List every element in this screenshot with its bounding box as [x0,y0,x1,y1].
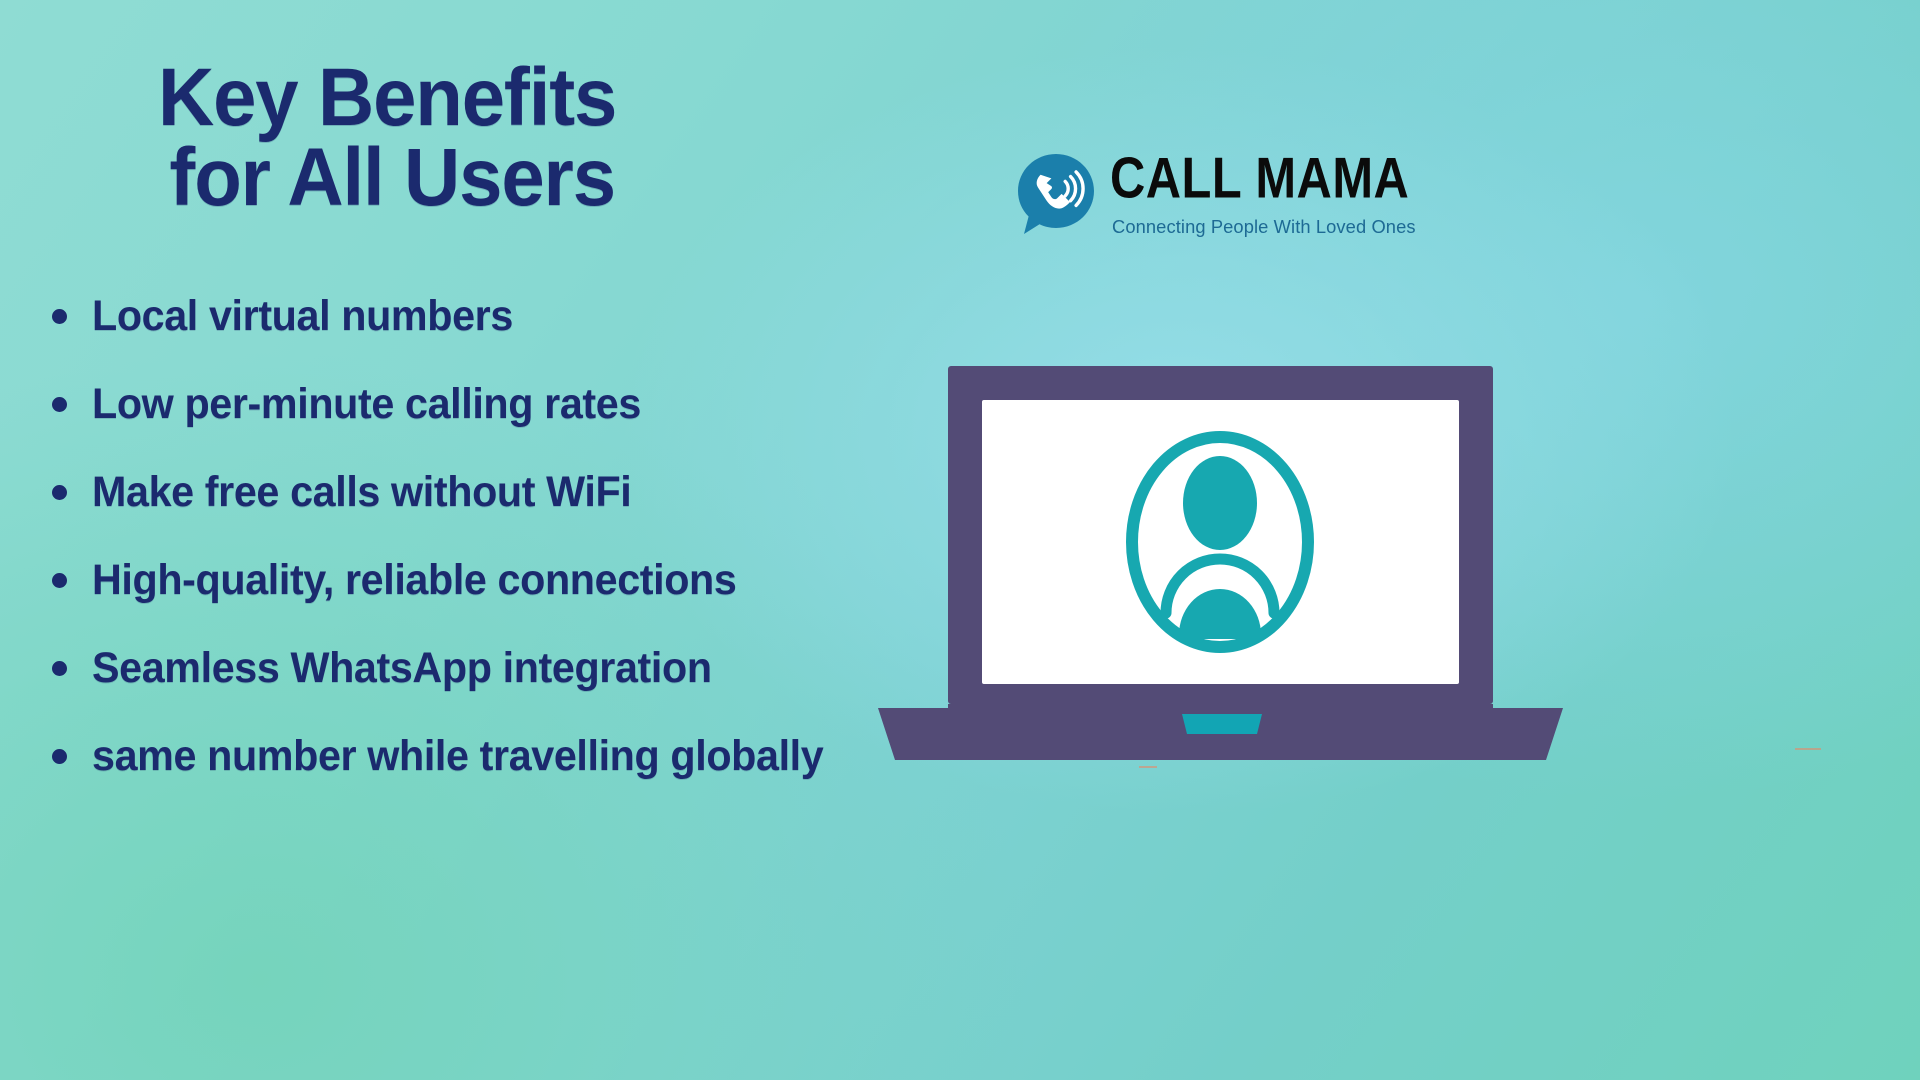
bullet-dot-icon [52,397,67,412]
page-title: Key Benefits for All Users [158,58,880,217]
list-item-label: Seamless WhatsApp integration [92,647,712,690]
decorative-hairline-left [1139,766,1157,768]
decorative-hairline-right [1795,748,1821,750]
poster-content: Key Benefits for All Users Local virtual… [0,0,1920,1080]
bullet-dot-icon [52,749,67,764]
brand-logo: CALL MAMA Connecting People With Loved O… [1014,146,1366,242]
list-item: Local virtual numbers [52,272,1052,360]
list-item-label: Local virtual numbers [92,295,513,338]
page-title-line-1: Key Benefits [158,58,880,138]
list-item-label: Make free calls without WiFi [92,471,631,514]
logo-text-block: CALL MAMA Connecting People With Loved O… [1110,146,1370,242]
bullet-dot-icon [52,661,67,676]
phone-call-bubble-icon [1014,152,1098,236]
bullet-dot-icon [52,573,67,588]
list-item-label: High-quality, reliable connections [92,559,736,602]
logo-wordmark: CALL MAMA [1110,150,1409,207]
list-item-label: same number while travelling globally [92,735,823,778]
bullet-dot-icon [52,485,67,500]
bullet-dot-icon [52,309,67,324]
logo-tagline: Connecting People With Loved Ones [1112,218,1416,237]
laptop-trackpad [1182,714,1262,734]
page-title-line-2: for All Users [158,138,880,218]
laptop-with-user-avatar-illustration [866,356,1574,776]
list-item-label: Low per-minute calling rates [92,383,641,426]
